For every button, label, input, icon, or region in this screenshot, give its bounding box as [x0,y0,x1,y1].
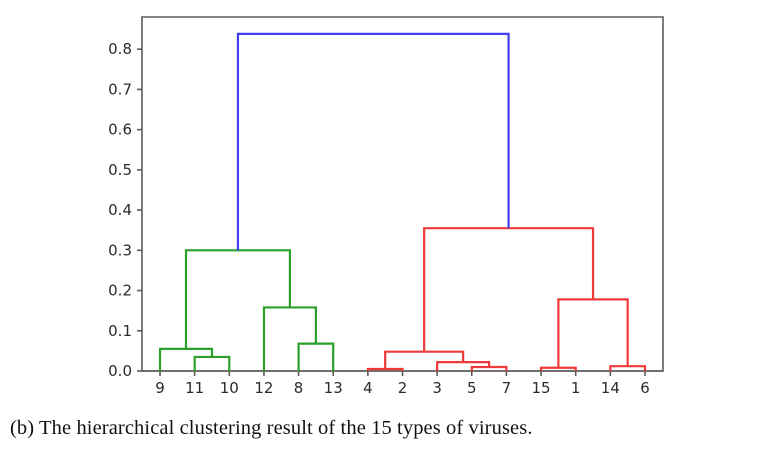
svg-text:8: 8 [294,379,304,397]
dendrogram-plot: 0.00.10.20.30.40.50.60.70.8 911101281342… [0,0,772,405]
svg-text:2: 2 [398,379,408,397]
svg-text:14: 14 [601,379,620,397]
figure-caption: (b) The hierarchical clustering result o… [10,414,762,442]
svg-text:5: 5 [467,379,477,397]
svg-text:9: 9 [155,379,165,397]
svg-text:12: 12 [254,379,273,397]
axes-frame [142,17,663,371]
svg-text:4: 4 [363,379,373,397]
figure-root: 0.00.10.20.30.40.50.60.70.8 911101281342… [0,0,772,460]
svg-text:0.6: 0.6 [108,121,132,139]
dendrogram-links [160,34,645,371]
svg-text:0.5: 0.5 [108,161,132,179]
svg-text:1: 1 [571,379,581,397]
svg-text:0.8: 0.8 [108,40,132,58]
svg-text:0.4: 0.4 [108,201,132,219]
svg-text:13: 13 [324,379,343,397]
svg-text:0.3: 0.3 [108,241,132,259]
x-axis-leaf-labels: 911101281342357151146 [155,379,650,397]
y-axis-ticks: 0.00.10.20.30.40.50.60.70.8 [108,40,142,380]
svg-text:7: 7 [502,379,512,397]
svg-text:0.7: 0.7 [108,80,132,98]
svg-text:0.0: 0.0 [108,362,132,380]
svg-text:0.2: 0.2 [108,282,132,300]
svg-text:15: 15 [532,379,551,397]
svg-text:3: 3 [432,379,442,397]
svg-text:11: 11 [185,379,204,397]
svg-text:10: 10 [220,379,239,397]
dendrogram-svg: 0.00.10.20.30.40.50.60.70.8 911101281342… [0,0,772,405]
svg-text:6: 6 [640,379,650,397]
svg-text:0.1: 0.1 [108,322,132,340]
